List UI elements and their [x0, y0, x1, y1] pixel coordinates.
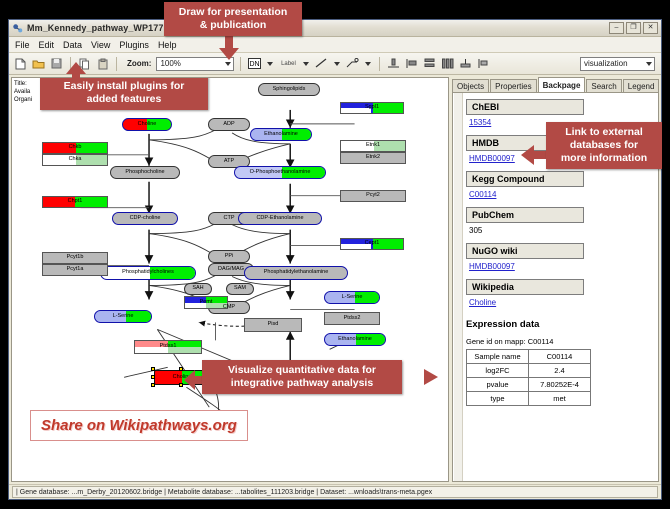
menu-item-help[interactable]: Help	[158, 40, 177, 50]
expression-table: Sample name C00114 log2FC 2.4 pvalue 7.8…	[466, 349, 591, 406]
menu-item-file[interactable]: File	[15, 40, 30, 50]
metabolite-node[interactable]: ADP	[208, 118, 250, 131]
data-node-icon[interactable]: DN	[247, 56, 262, 71]
metabolite-node[interactable]: CDP-choline	[112, 212, 178, 225]
chevron-down-icon[interactable]	[303, 62, 309, 66]
node-label: O-Phosphoethanolamine	[250, 170, 311, 176]
menu-bar: File Edit Data View Plugins Help	[9, 37, 661, 53]
node-label: Etnk2	[366, 155, 380, 161]
open-folder-icon[interactable]	[31, 56, 46, 71]
callout-link-line3: more information	[552, 152, 656, 165]
selection-handle[interactable]	[179, 367, 183, 371]
db-link-kegg[interactable]: C00114	[469, 190, 496, 199]
gene-node[interactable]: Etnk1	[340, 140, 406, 152]
callout-visualize-line2: integrative pathway analysis	[208, 377, 396, 390]
metabolite-node[interactable]: Sphingolipids	[258, 83, 320, 96]
distribute-columns-icon[interactable]	[440, 56, 455, 71]
callout-plugins-line1: Easily install plugins for	[46, 80, 202, 93]
table-row: type met	[467, 392, 591, 406]
toolbar: Zoom: 100% DN Label	[9, 53, 661, 75]
selection-handle[interactable]	[151, 383, 155, 387]
status-text: | Gene database: ...m_Derby_20120602.bri…	[12, 486, 658, 498]
tab-search[interactable]: Search	[586, 79, 621, 92]
toolbar-separator-4	[379, 57, 380, 71]
node-label: Ptdss2	[344, 316, 361, 322]
callout-draw-arrow	[216, 36, 242, 65]
cell-value: C00114	[529, 350, 591, 364]
selection-handle[interactable]	[151, 375, 155, 379]
node-label: Ethanolamine	[338, 337, 372, 343]
line-tool-icon[interactable]	[314, 56, 329, 71]
callout-link-line2: databases for	[552, 139, 656, 152]
zoom-label: Zoom:	[127, 59, 151, 68]
metabolite-node[interactable]: SAM	[226, 283, 254, 295]
node-label: Phosphocholine	[125, 170, 164, 176]
metabolite-node[interactable]: SAH	[184, 283, 212, 295]
zoom-value: 100%	[160, 59, 180, 68]
metabolite-node[interactable]: PPi	[208, 250, 250, 263]
callout-expression-arrow	[424, 368, 438, 391]
node-label: Ethanolamine	[264, 132, 298, 138]
gene-node[interactable]: Chka	[42, 154, 108, 166]
node-label: Pisd	[268, 322, 279, 328]
callout-draw: Draw for presentation & publication	[164, 2, 302, 36]
svg-text:DN: DN	[250, 61, 260, 68]
db-header-chebi: ChEBI	[466, 99, 584, 115]
tab-properties[interactable]: Properties	[490, 79, 536, 92]
cell-key: Sample name	[467, 350, 529, 364]
db-header-nugo: NuGO wiki	[466, 243, 584, 259]
callout-draw-line1: Draw for presentation	[170, 6, 296, 19]
metabolite-node[interactable]: Ethanolamine	[324, 333, 386, 346]
cell-value: 7.80252E-4	[529, 378, 591, 392]
metabolite-node[interactable]: L-Serine	[94, 310, 152, 323]
tab-objects[interactable]: Objects	[452, 79, 489, 92]
gene-node[interactable]: Pisd	[244, 318, 302, 332]
callout-plugins: Easily install plugins for added feature…	[40, 77, 208, 110]
gene-node[interactable]: Chkb	[42, 142, 108, 154]
node-label: CDP-choline	[130, 216, 161, 222]
pathvisio-app-icon	[12, 23, 23, 34]
node-label: ADP	[223, 122, 234, 128]
title-bar: Mm_Kennedy_pathway_WP1771_45176.gpml – ❐…	[9, 20, 661, 37]
cell-value: met	[529, 392, 591, 406]
node-label: Pemt	[200, 300, 213, 306]
table-row: Sample name C00114	[467, 350, 591, 364]
db-link-chebi[interactable]: 15354	[469, 118, 491, 127]
gene-node[interactable]: Cept1	[340, 238, 404, 250]
metabolite-node[interactable]: L-Serine	[324, 291, 380, 304]
status-bar: | Gene database: ...m_Derby_20120602.bri…	[9, 484, 661, 499]
chevron-down-icon[interactable]	[267, 62, 273, 66]
tab-backpage[interactable]: Backpage	[538, 77, 586, 92]
metabolite-node[interactable]: Ethanolamine	[250, 128, 312, 141]
table-row: pvalue 7.80252E-4	[467, 378, 591, 392]
gene-node[interactable]: Pcyt1b	[42, 252, 108, 264]
gene-node[interactable]: Pcyt1a	[42, 264, 108, 276]
callout-link-databases: Link to external databases for more info…	[546, 122, 662, 169]
menu-item-edit[interactable]: Edit	[39, 40, 55, 50]
callout-link-arrow	[521, 143, 549, 172]
node-label: Ptdss1	[160, 344, 177, 350]
node-label: Pcyt1a	[67, 267, 84, 273]
window-buttons: – ❐ ✕	[609, 22, 658, 34]
node-label: Pcyt1b	[67, 255, 84, 261]
gene-node[interactable]: Sgpl1	[340, 102, 404, 114]
visualization-combo[interactable]: visualization	[580, 57, 655, 71]
tab-legend[interactable]: Legend	[623, 79, 660, 92]
label-tool-text: Label	[281, 61, 296, 67]
table-row: log2FC 2.4	[467, 364, 591, 378]
node-label: SAH	[192, 286, 203, 292]
callout-visualize: Visualize quantitative data for integrat…	[202, 360, 402, 394]
anchor-line-icon[interactable]	[345, 56, 360, 71]
callout-link-line1: Link to external	[552, 126, 656, 139]
toolbar-separator-2	[116, 57, 117, 71]
selection-handle[interactable]	[179, 383, 183, 387]
node-label: Sgpl1	[365, 105, 379, 111]
node-label: Chka	[69, 157, 82, 163]
stack-icon[interactable]	[476, 56, 491, 71]
callout-plugins-line2: added features	[46, 93, 202, 106]
node-label: Sphingolipids	[273, 87, 306, 93]
align-left-icon[interactable]	[404, 56, 419, 71]
node-label: CDP-Ethanolamine	[256, 216, 303, 222]
node-label: Chkb	[69, 145, 82, 151]
backpage-scrollbar[interactable]	[454, 93, 463, 481]
db-header-pubchem: PubChem	[466, 207, 584, 223]
node-label: L-Serine	[342, 295, 363, 301]
align-bottom-icon[interactable]	[386, 56, 401, 71]
side-tabs: Objects Properties Backpage Search Legen…	[452, 77, 659, 92]
expression-heading: Expression data	[466, 319, 651, 330]
visualization-value: visualization	[584, 59, 628, 68]
chevron-down-icon[interactable]	[334, 62, 340, 66]
node-label: L-Serine	[113, 314, 134, 320]
pathway-canvas[interactable]: Title: Availa Organi	[11, 77, 449, 482]
minimize-button[interactable]: –	[609, 22, 624, 34]
metabolite-node[interactable]: CDP-Ethanolamine	[238, 212, 322, 225]
node-label: SAM	[234, 286, 246, 292]
db-link-nugo[interactable]: HMDB00097	[469, 262, 515, 271]
new-document-icon[interactable]	[13, 56, 28, 71]
callout-draw-line2: & publication	[170, 19, 296, 32]
callout-visualize-line1: Visualize quantitative data for	[208, 364, 396, 377]
node-label: Cept1	[365, 241, 380, 247]
chevron-down-icon[interactable]	[365, 62, 371, 66]
metabolite-node[interactable]: O-Phosphoethanolamine	[234, 166, 326, 179]
gene-node[interactable]: Ptdss1	[134, 340, 202, 354]
pathvisio-window: Mm_Kennedy_pathway_WP1771_45176.gpml – ❐…	[8, 19, 662, 500]
label-tool-icon[interactable]: Label	[278, 56, 298, 71]
gene-node[interactable]: Chpt1	[42, 196, 108, 208]
db-link-wikipedia[interactable]: Choline	[469, 298, 496, 307]
cell-key: log2FC	[467, 364, 529, 378]
close-button[interactable]: ✕	[643, 22, 658, 34]
metabolite-node[interactable]: Phosphatidylcholines	[100, 266, 196, 280]
cell-key: pvalue	[467, 378, 529, 392]
share-banner: Share on Wikipathways.org	[30, 410, 248, 441]
group-icon[interactable]	[458, 56, 473, 71]
node-label: Pcyt2	[366, 193, 380, 199]
metabolite-node[interactable]: Phosphocholine	[110, 166, 180, 179]
node-label: ATP	[224, 159, 234, 165]
gene-node[interactable]: Pemt	[184, 296, 228, 309]
node-label: CTP	[224, 216, 235, 222]
menu-item-view[interactable]: View	[91, 40, 110, 50]
gene-node[interactable]: Pcyt2	[340, 190, 406, 202]
db-header-wikipedia: Wikipedia	[466, 279, 584, 295]
node-label: PPi	[225, 254, 234, 260]
chevron-down-icon	[646, 62, 652, 66]
node-label: Choline	[138, 122, 157, 128]
paste-icon[interactable]	[95, 56, 110, 71]
node-label: CMP	[223, 305, 235, 311]
menu-item-data[interactable]: Data	[63, 40, 82, 50]
db-header-kegg: Kegg Compound	[466, 171, 584, 187]
db-link-hmdb[interactable]: HMDB00097	[469, 154, 515, 163]
cell-value: 2.4	[529, 364, 591, 378]
node-label: DAG/MAG	[218, 267, 244, 273]
gene-node[interactable]: Ptdss2	[324, 312, 380, 325]
metabolite-node[interactable]: Choline	[122, 118, 172, 131]
selection-handle[interactable]	[151, 367, 155, 371]
node-label: Etnk1	[366, 143, 380, 149]
node-label: Chpt1	[68, 199, 83, 205]
db-value-pubchem: 305	[469, 226, 482, 235]
maximize-button[interactable]: ❐	[626, 22, 641, 34]
menu-item-plugins[interactable]: Plugins	[119, 40, 149, 50]
gene-id-on-mapp: Gene id on mapp: C00114	[466, 337, 651, 346]
cell-key: type	[467, 392, 529, 406]
save-icon[interactable]	[49, 56, 64, 71]
node-label: Phosphatidylcholines	[122, 270, 174, 276]
distribute-rows-icon[interactable]	[422, 56, 437, 71]
metabolite-node[interactable]: Phosphatidylethanolamine	[244, 266, 348, 280]
gene-node[interactable]: Etnk2	[340, 152, 406, 164]
node-label: Phosphatidylethanolamine	[264, 270, 329, 276]
